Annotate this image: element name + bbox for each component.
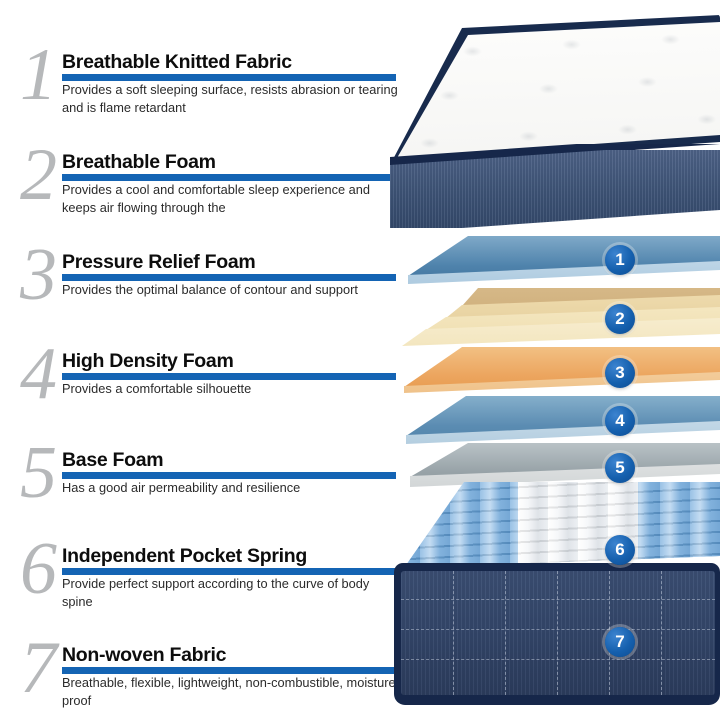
layer-non-woven-fabric-base <box>394 563 720 705</box>
feature-title-7: Non-woven Fabric <box>62 645 410 665</box>
layer-high-density-foam <box>390 396 720 444</box>
feature-number-6: 6 <box>10 532 66 606</box>
feature-title-6: Independent Pocket Spring <box>62 546 410 566</box>
feature-title-1: Breathable Knitted Fabric <box>62 52 410 72</box>
layer-pressure-relief-foam <box>390 347 720 393</box>
knitted-fabric-cover <box>390 14 720 264</box>
feature-title-4: High Density Foam <box>62 351 410 371</box>
layer-base-foam <box>390 443 720 487</box>
feature-rule-5 <box>62 472 396 479</box>
base-fabric-face <box>401 571 715 695</box>
mattress-cutaway-illustration: 1 2 3 4 5 6 7 <box>390 0 720 720</box>
feature-item-5: 5 Base Foam Has a good air permeability … <box>0 450 410 497</box>
feature-number-1: 1 <box>10 38 66 112</box>
feature-title-5: Base Foam <box>62 450 410 470</box>
feature-rule-3 <box>62 274 396 281</box>
feature-item-1: 1 Breathable Knitted Fabric Provides a s… <box>0 52 410 117</box>
layer-badge-2[interactable]: 2 <box>605 304 635 334</box>
layer-badge-7[interactable]: 7 <box>605 627 635 657</box>
feature-rule-6 <box>62 568 396 575</box>
layer-breathable-knitted-fabric <box>390 236 720 284</box>
feature-item-3: 3 Pressure Relief Foam Provides the opti… <box>0 252 410 299</box>
feature-title-3: Pressure Relief Foam <box>62 252 410 272</box>
feature-item-2: 2 Breathable Foam Provides a cool and co… <box>0 152 410 217</box>
feature-rule-7 <box>62 667 396 674</box>
layer-breathable-foam <box>390 288 720 346</box>
feature-item-6: 6 Independent Pocket Spring Provide perf… <box>0 546 410 611</box>
layer-badge-1[interactable]: 1 <box>605 245 635 275</box>
feature-number-5: 5 <box>10 436 66 510</box>
layer-badge-3[interactable]: 3 <box>605 358 635 388</box>
feature-number-3: 3 <box>10 238 66 312</box>
layer-badge-5[interactable]: 5 <box>605 453 635 483</box>
cover-side-panel <box>390 150 720 228</box>
mattress-layer-infographic: 1 Breathable Knitted Fabric Provides a s… <box>0 0 720 720</box>
layer-badge-6[interactable]: 6 <box>605 535 635 565</box>
feature-rule-1 <box>62 74 396 81</box>
feature-item-7: 7 Non-woven Fabric Breathable, flexible,… <box>0 645 410 710</box>
layer-badge-4[interactable]: 4 <box>605 406 635 436</box>
feature-title-2: Breathable Foam <box>62 152 410 172</box>
feature-item-4: 4 High Density Foam Provides a comfortab… <box>0 351 410 398</box>
feature-number-4: 4 <box>10 337 66 411</box>
feature-number-7: 7 <box>10 631 66 705</box>
feature-number-2: 2 <box>10 138 66 212</box>
feature-rule-4 <box>62 373 396 380</box>
feature-rule-2 <box>62 174 396 181</box>
